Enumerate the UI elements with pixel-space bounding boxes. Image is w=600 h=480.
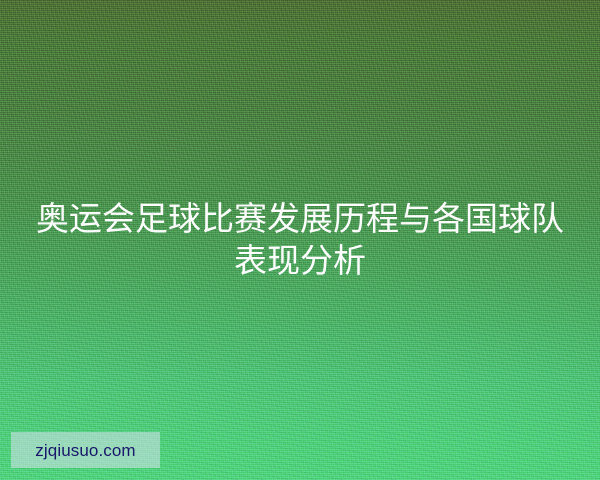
- watermark-text: zjqiusuo.com: [35, 442, 135, 459]
- banner-image: 奥运会足球比赛发展历程与各国球队表现分析 zjqiusuo.com: [0, 0, 600, 480]
- title-block: 奥运会足球比赛发展历程与各国球队表现分析: [0, 198, 600, 282]
- watermark-badge: zjqiusuo.com: [11, 432, 160, 468]
- banner-title: 奥运会足球比赛发展历程与各国球队表现分析: [22, 198, 578, 282]
